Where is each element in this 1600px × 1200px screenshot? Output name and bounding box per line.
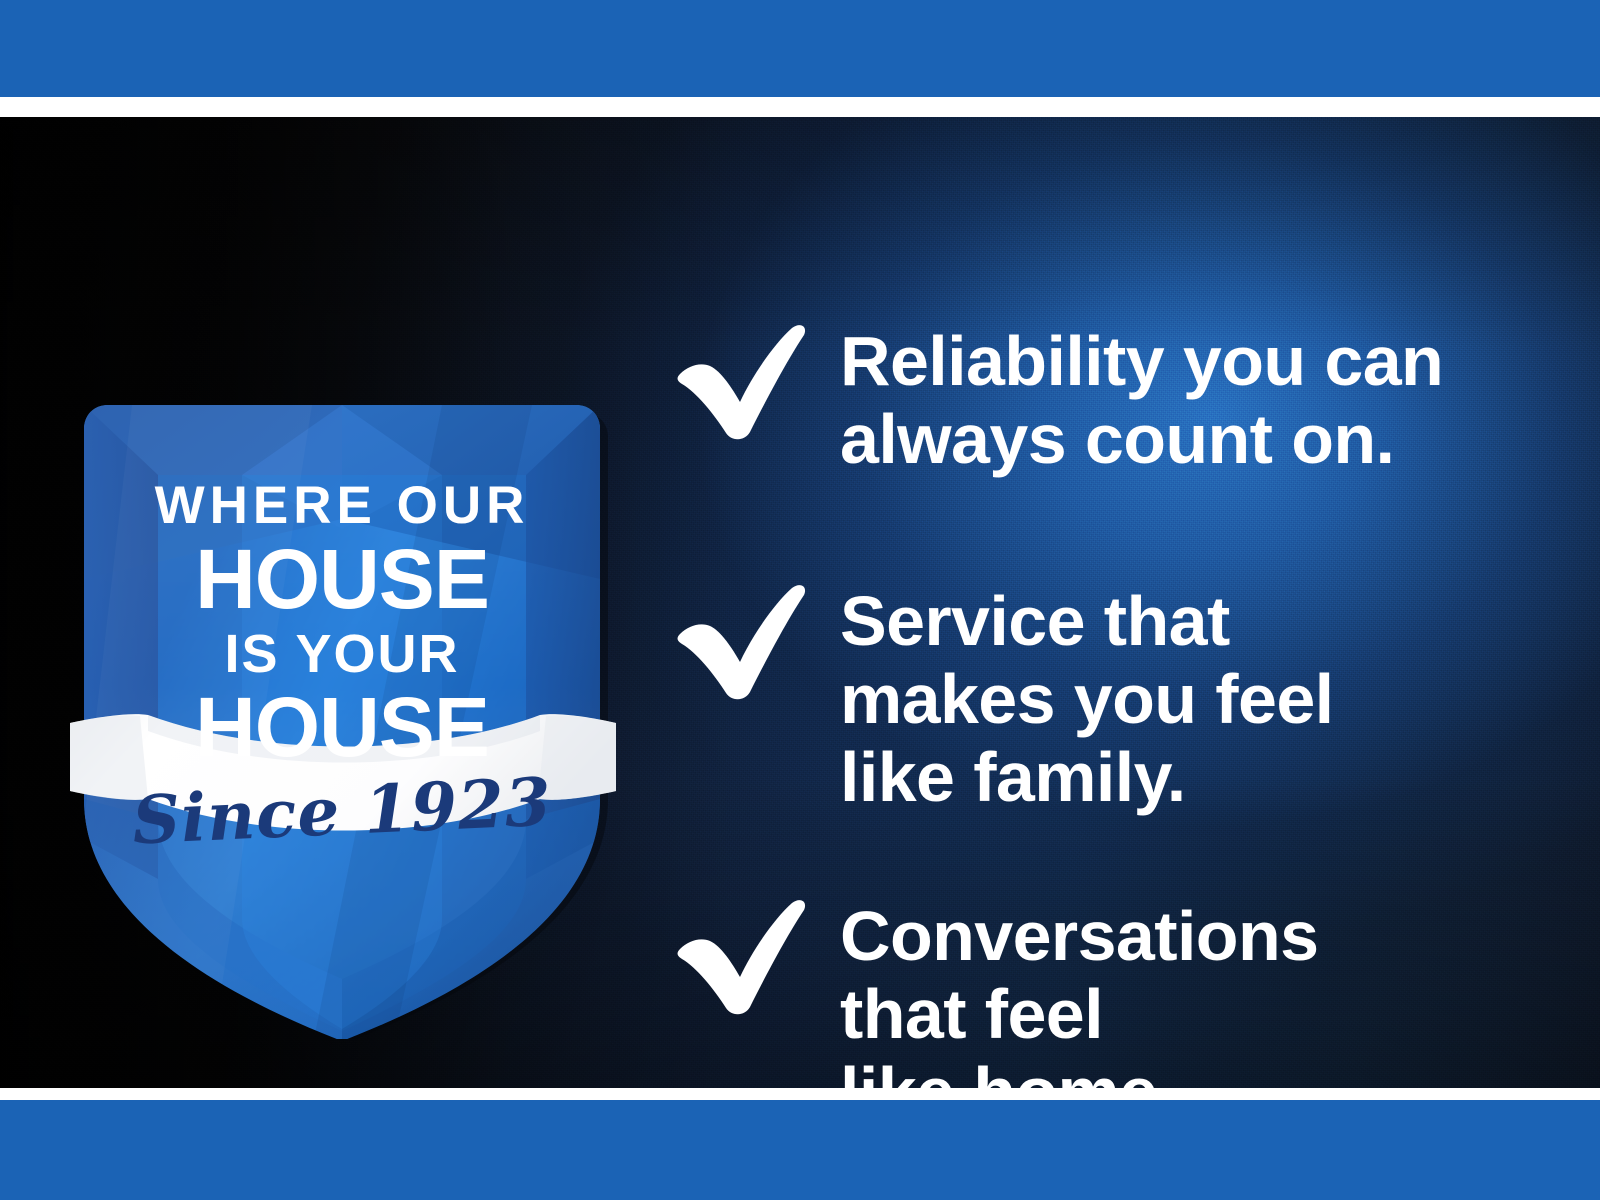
bottom-brand-bar xyxy=(0,1100,1600,1200)
list-item-text: Reliability you can always count on. xyxy=(840,322,1530,478)
text-line: Service that xyxy=(840,582,1530,660)
text-line: makes you feel xyxy=(840,660,1530,738)
checkmark-icon xyxy=(666,582,812,702)
shield-badge-icon: WHERE OUR HOUSE IS YOUR HOUSE Since 1923 xyxy=(62,279,622,1039)
checkmark-icon xyxy=(666,897,812,1017)
top-brand-bar xyxy=(0,0,1600,97)
text-line: Reliability you can xyxy=(840,322,1530,400)
list-item-text: Service that makes you feel like family. xyxy=(840,582,1530,816)
promo-poster: WHERE OUR HOUSE IS YOUR HOUSE Since 1923… xyxy=(0,0,1600,1200)
text-line: always count on. xyxy=(840,400,1530,478)
text-line: that feel xyxy=(840,975,1530,1053)
text-line: like home. xyxy=(840,1053,1530,1088)
main-dark-panel: WHERE OUR HOUSE IS YOUR HOUSE Since 1923… xyxy=(0,117,1600,1088)
list-item-text: Conversations that feel like home. xyxy=(840,897,1530,1088)
text-line: Conversations xyxy=(840,897,1530,975)
text-line: like family. xyxy=(840,738,1530,816)
checkmark-icon xyxy=(666,322,812,442)
